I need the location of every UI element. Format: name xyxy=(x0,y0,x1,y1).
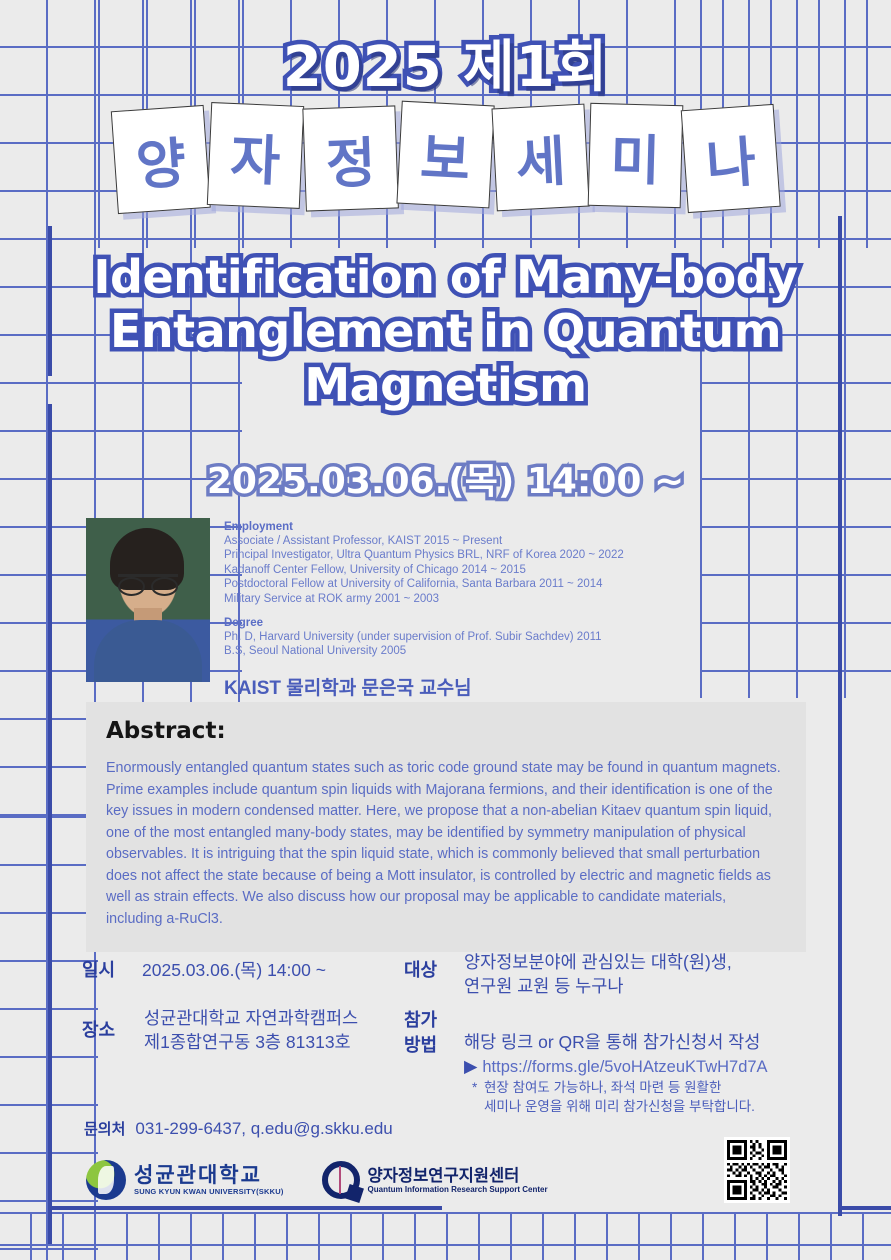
photo-glasses xyxy=(118,574,178,591)
logo-row: 성균관대학교 SUNG KYUN KWAN UNIVERSITY(SKKU) 양… xyxy=(86,1160,548,1200)
frame-line-left-lower xyxy=(48,404,52,1244)
venue-line-1: 성균관대학교 자연과학캠퍼스 xyxy=(144,1006,358,1030)
employment-line: Military Service at ROK army 2001 ~ 2003 xyxy=(224,592,806,606)
contact-label: 문의처 xyxy=(84,1118,125,1139)
seminar-title: Identification of Many-body Entanglement… xyxy=(40,250,851,412)
qirsc-name-en: Quantum Information Research Support Cen… xyxy=(368,1185,548,1194)
date-headline: 2025.03.06.(목) 14:00 ~ xyxy=(0,452,891,504)
venue-value: 성균관대학교 자연과학캠퍼스 제1종합연구동 3층 81313호 xyxy=(144,1006,358,1054)
speaker-photo xyxy=(86,518,210,682)
degree-line: Ph. D, Harvard University (under supervi… xyxy=(224,630,806,644)
abstract-heading: Abstract: xyxy=(106,718,786,744)
method-value: 해당 링크 or QR을 통해 참가신청서 작성 ▶ https://forms… xyxy=(464,1030,768,1079)
seminar-title-line: Magnetism xyxy=(40,358,851,412)
method-text: 해당 링크 or QR을 통해 참가신청서 작성 xyxy=(464,1030,768,1054)
speaker-name: KAIST 물리학과 문은국 교수님 xyxy=(224,673,806,700)
note-line-2: 세미나 운영을 위해 미리 참가신청을 부탁합니다. xyxy=(484,1097,755,1116)
method-label: 참가 방법 xyxy=(404,1008,437,1058)
employment-line: Postdoctoral Fellow at University of Cal… xyxy=(224,577,806,591)
datetime-label: 일시 xyxy=(82,958,115,982)
degree-line: B.S, Seoul National University 2005 xyxy=(224,644,806,658)
registration-link-row[interactable]: ▶ https://forms.gle/5voHAtzeuKTwH7d7A xyxy=(464,1054,768,1079)
title-card: 자 xyxy=(207,102,304,209)
seminar-title-line: Identification of Many-body xyxy=(40,250,851,304)
contact-value[interactable]: 031-299-6437, q.edu@g.skku.edu xyxy=(135,1119,392,1139)
datetime-value: 2025.03.06.(목) 14:00 ~ xyxy=(142,958,326,982)
skku-name-ko: 성균관대학교 xyxy=(134,1165,284,1187)
audience-label: 대상 xyxy=(404,958,437,982)
registration-link[interactable]: https://forms.gle/5voHAtzeuKTwH7d7A xyxy=(482,1058,767,1076)
employment-line: Associate / Assistant Professor, KAIST 2… xyxy=(224,534,806,548)
registration-qr-code[interactable] xyxy=(724,1137,790,1203)
title-card: 나 xyxy=(681,104,781,213)
skku-emblem-icon xyxy=(86,1160,126,1200)
seminar-poster: 2025 제1회 양 자 정 보 세 미 나 Identification of… xyxy=(0,0,891,1260)
title-card: 양 xyxy=(111,105,211,214)
title-card: 정 xyxy=(302,105,399,211)
employment-line: Principal Investigator, Ultra Quantum Ph… xyxy=(224,548,806,562)
qirsc-name-ko: 양자정보연구지원센터 xyxy=(368,1167,548,1185)
venue-line-2: 제1종합연구동 3층 81313호 xyxy=(144,1030,358,1054)
skku-logo-text: 성균관대학교 SUNG KYUN KWAN UNIVERSITY(SKKU) xyxy=(134,1165,284,1196)
employment-heading: Employment xyxy=(224,520,806,534)
registration-note: * 현장 참여도 가능하나, 좌석 마련 등 원활한 세미나 운영을 위해 미리… xyxy=(484,1078,755,1116)
contact-row: 문의처 031-299-6437, q.edu@g.skku.edu xyxy=(84,1118,393,1139)
title-card-row: 양 자 정 보 세 미 나 xyxy=(0,104,891,222)
note-line-1: 현장 참여도 가능하나, 좌석 마련 등 원활한 xyxy=(484,1078,755,1097)
seminar-title-line: Entanglement in Quantum xyxy=(40,304,851,358)
title-card: 세 xyxy=(491,104,589,212)
photo-shirt xyxy=(94,620,202,682)
title-card: 보 xyxy=(396,101,494,209)
venue-label: 장소 xyxy=(82,1018,115,1042)
title-card: 미 xyxy=(588,103,684,208)
edition-headline: 2025 제1회 xyxy=(0,22,891,103)
qirsc-logo-text: 양자정보연구지원센터 Quantum Information Research … xyxy=(368,1167,548,1194)
asterisk-icon: * xyxy=(472,1078,477,1097)
qirsc-logo: 양자정보연구지원센터 Quantum Information Research … xyxy=(322,1161,548,1199)
method-label-line-2: 방법 xyxy=(404,1033,437,1058)
method-label-line-1: 참가 xyxy=(404,1008,437,1033)
abstract-body: Enormously entangled quantum states such… xyxy=(106,758,786,930)
grid-block-bottom xyxy=(0,1212,891,1260)
degree-heading: Degree xyxy=(224,616,806,630)
qirsc-emblem-icon xyxy=(322,1161,360,1199)
speaker-bio: Employment Associate / Assistant Profess… xyxy=(224,518,806,700)
frame-line-bottom xyxy=(48,1206,442,1210)
frame-line-bottom-right xyxy=(838,1206,891,1210)
skku-name-en: SUNG KYUN KWAN UNIVERSITY(SKKU) xyxy=(134,1187,284,1196)
audience-line-1: 양자정보분야에 관심있는 대학(원)생, xyxy=(464,950,732,974)
skku-logo: 성균관대학교 SUNG KYUN KWAN UNIVERSITY(SKKU) xyxy=(86,1160,284,1200)
audience-value: 양자정보분야에 관심있는 대학(원)생, 연구원 교원 등 누구나 xyxy=(464,950,732,998)
abstract-panel: Abstract: Enormously entangled quantum s… xyxy=(86,702,806,952)
bio-spacer xyxy=(224,606,806,616)
qirsc-bar xyxy=(339,1166,341,1194)
employment-line: Kadanoff Center Fellow, University of Ch… xyxy=(224,563,806,577)
audience-line-2: 연구원 교원 등 누구나 xyxy=(464,974,732,998)
speaker-section: Employment Associate / Assistant Profess… xyxy=(86,518,806,700)
play-triangle-icon: ▶ xyxy=(464,1056,477,1076)
qr-code-icon xyxy=(727,1140,787,1200)
